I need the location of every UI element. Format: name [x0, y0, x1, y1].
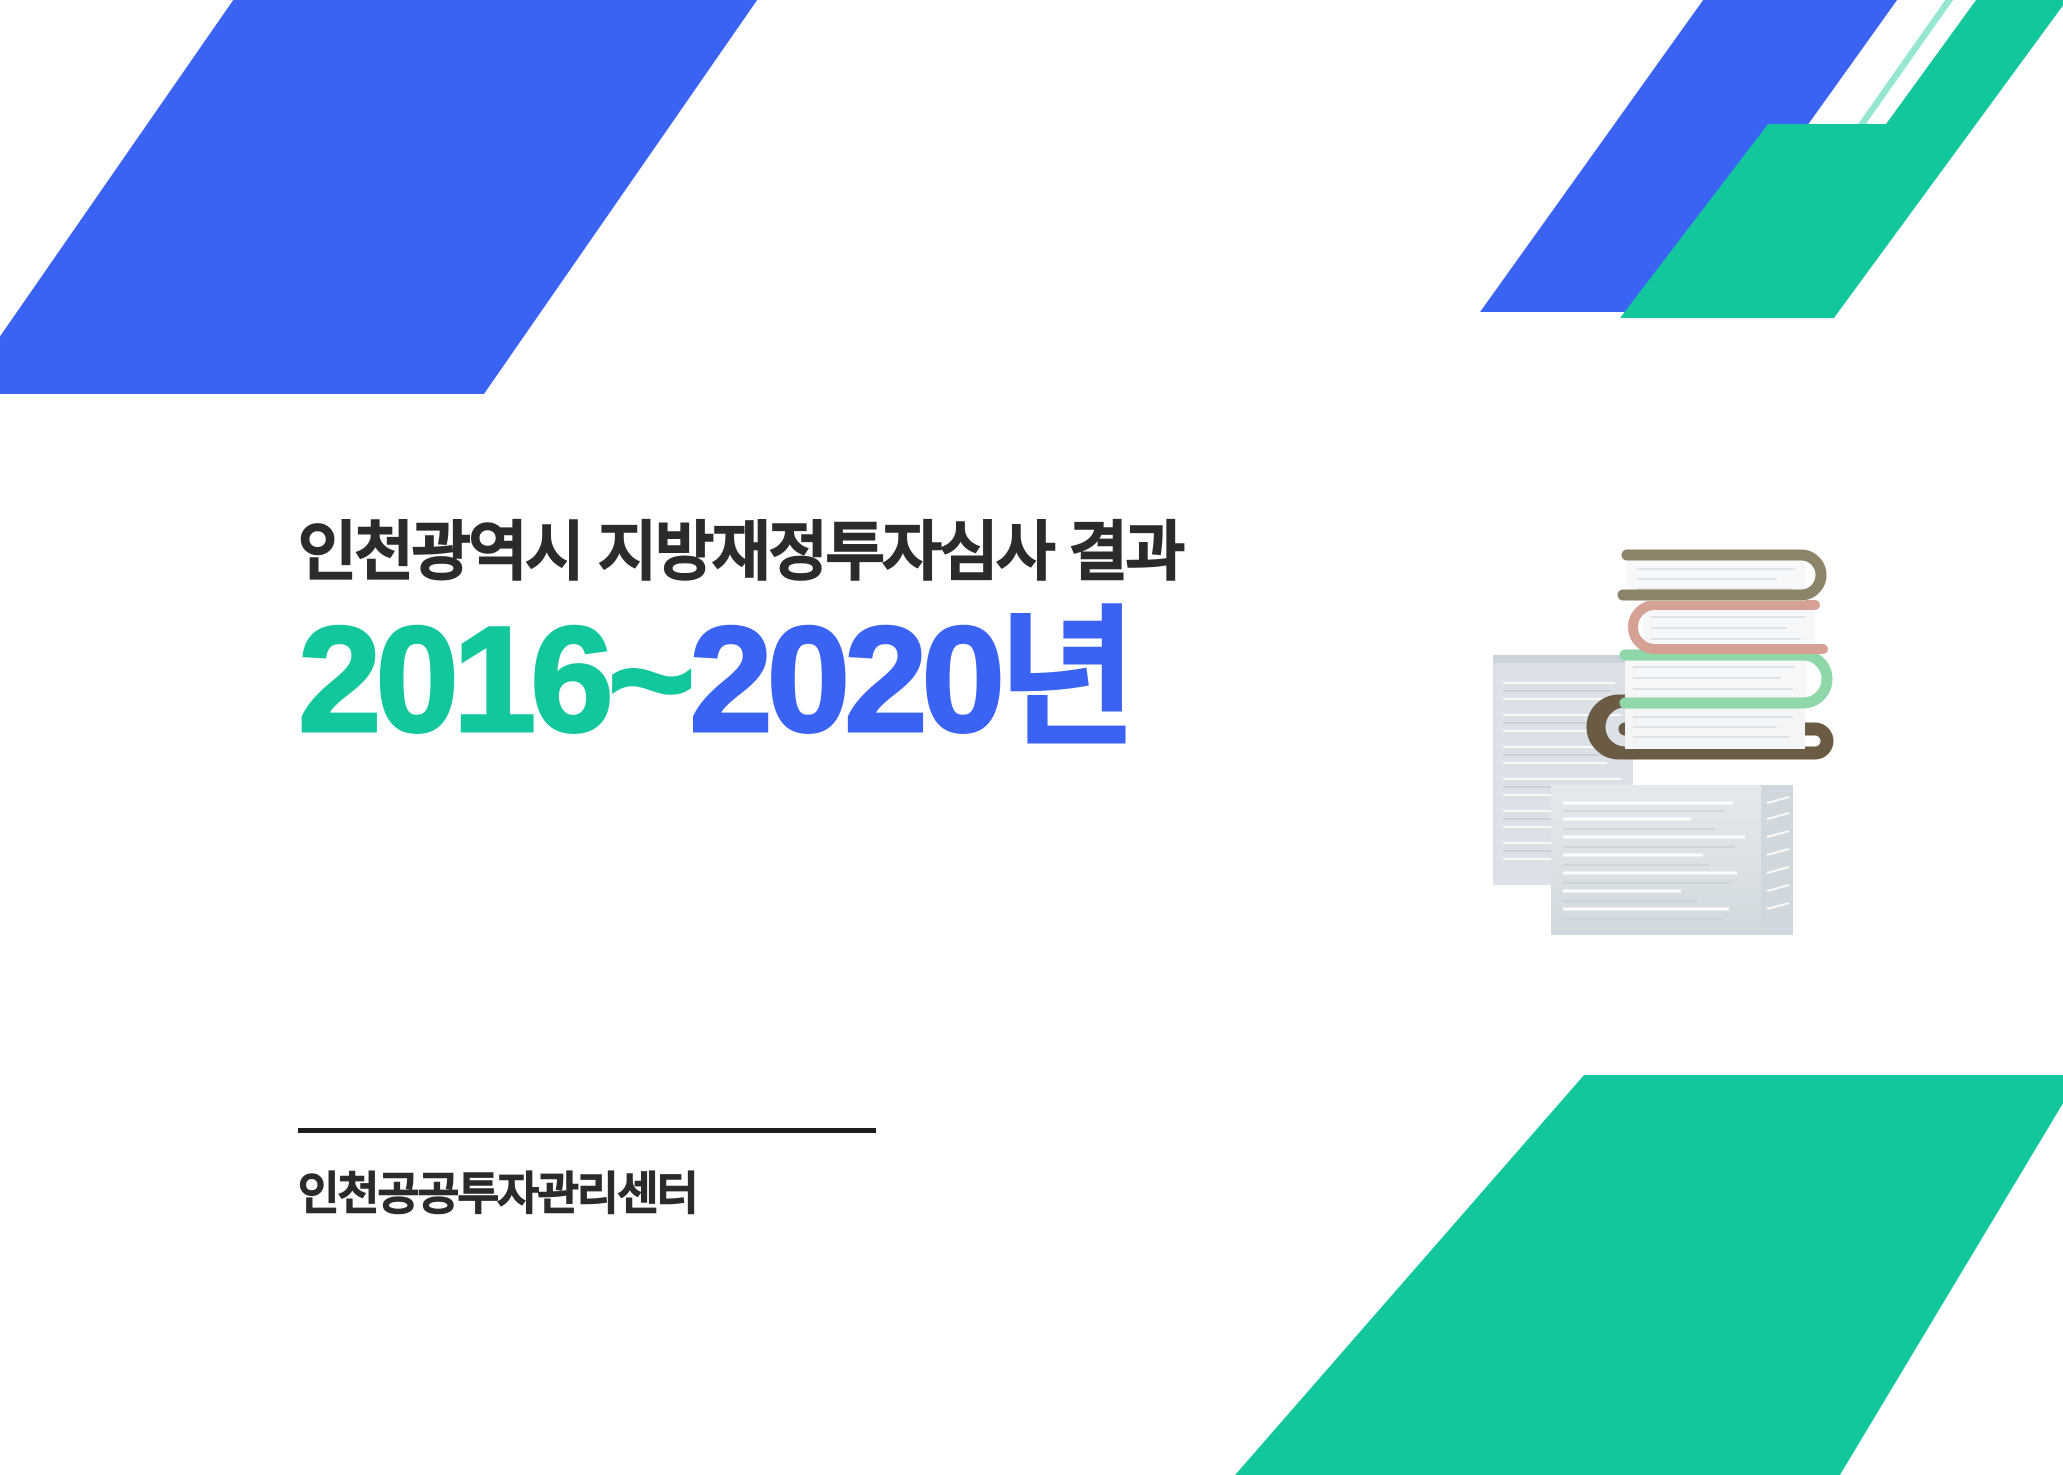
khaki-book — [1623, 555, 1821, 601]
top-right-green-stripe — [1620, 0, 2063, 324]
brown-book — [1593, 701, 1827, 753]
year-range-start: 2016~ — [298, 595, 689, 763]
organization-name: 인천공공투자관리센터 — [298, 1157, 998, 1222]
title-text-block: 인천광역시 지방재정투자심사 결과 2016~2020년 — [298, 520, 1498, 754]
green-book — [1625, 655, 1827, 703]
book-stack-illustration — [1475, 515, 1895, 940]
salmon-book — [1633, 605, 1823, 651]
top-left-blue-parallelogram — [0, 0, 760, 394]
top-right-blue-stripe — [1480, 0, 1900, 316]
page-title: 인천광역시 지방재정투자심사 결과 — [298, 520, 1498, 584]
year-range: 2016~2020년 — [298, 604, 1498, 754]
title-slide: 인천광역시 지방재정투자심사 결과 2016~2020년 인천공공투자관리센터 — [0, 0, 2063, 1475]
footer-divider — [298, 1128, 876, 1133]
bottom-right-green-parallelogram — [1180, 1075, 2063, 1475]
footer-block: 인천공공투자관리센터 — [298, 1128, 998, 1222]
paper-stack-front — [1551, 785, 1793, 935]
year-range-end: 2020년 — [689, 595, 1131, 763]
top-right-green-hairline — [1856, 0, 2036, 131]
